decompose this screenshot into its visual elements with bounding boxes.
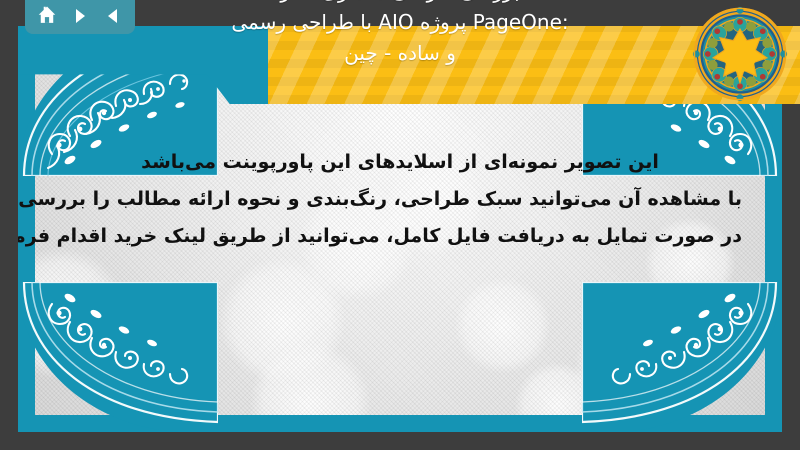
previous-slide-button[interactable] bbox=[100, 3, 126, 29]
slide-navigation-bar bbox=[25, 0, 135, 34]
body-line-3: در صورت تمایل به دریافت فایل کامل، می‌تو… bbox=[58, 218, 742, 255]
triangle-right-icon bbox=[70, 6, 90, 26]
next-slide-button[interactable] bbox=[67, 3, 93, 29]
bokeh-circle bbox=[35, 248, 125, 378]
home-icon bbox=[36, 5, 58, 27]
bokeh-circle bbox=[220, 258, 345, 383]
bokeh-circle bbox=[75, 298, 185, 408]
slide-body-text: این تصویر نمونه‌ای از اسلایدهای این پاور… bbox=[58, 144, 742, 255]
body-line-1: این تصویر نمونه‌ای از اسلایدهای این پاور… bbox=[58, 144, 742, 181]
body-line-2: با مشاهده آن می‌توانید سبک طراحی، رنگ‌بن… bbox=[58, 181, 742, 218]
bokeh-circle bbox=[515, 363, 600, 415]
slide-viewer: این تصویر نمونه‌ای از اسلایدهای این پاور… bbox=[0, 0, 800, 450]
triangle-left-icon bbox=[103, 6, 123, 26]
header-banner-yellow bbox=[268, 26, 800, 104]
bokeh-circle bbox=[575, 313, 685, 415]
bokeh-circle bbox=[250, 343, 370, 415]
bokeh-circle bbox=[455, 278, 550, 373]
home-button[interactable] bbox=[34, 3, 60, 29]
